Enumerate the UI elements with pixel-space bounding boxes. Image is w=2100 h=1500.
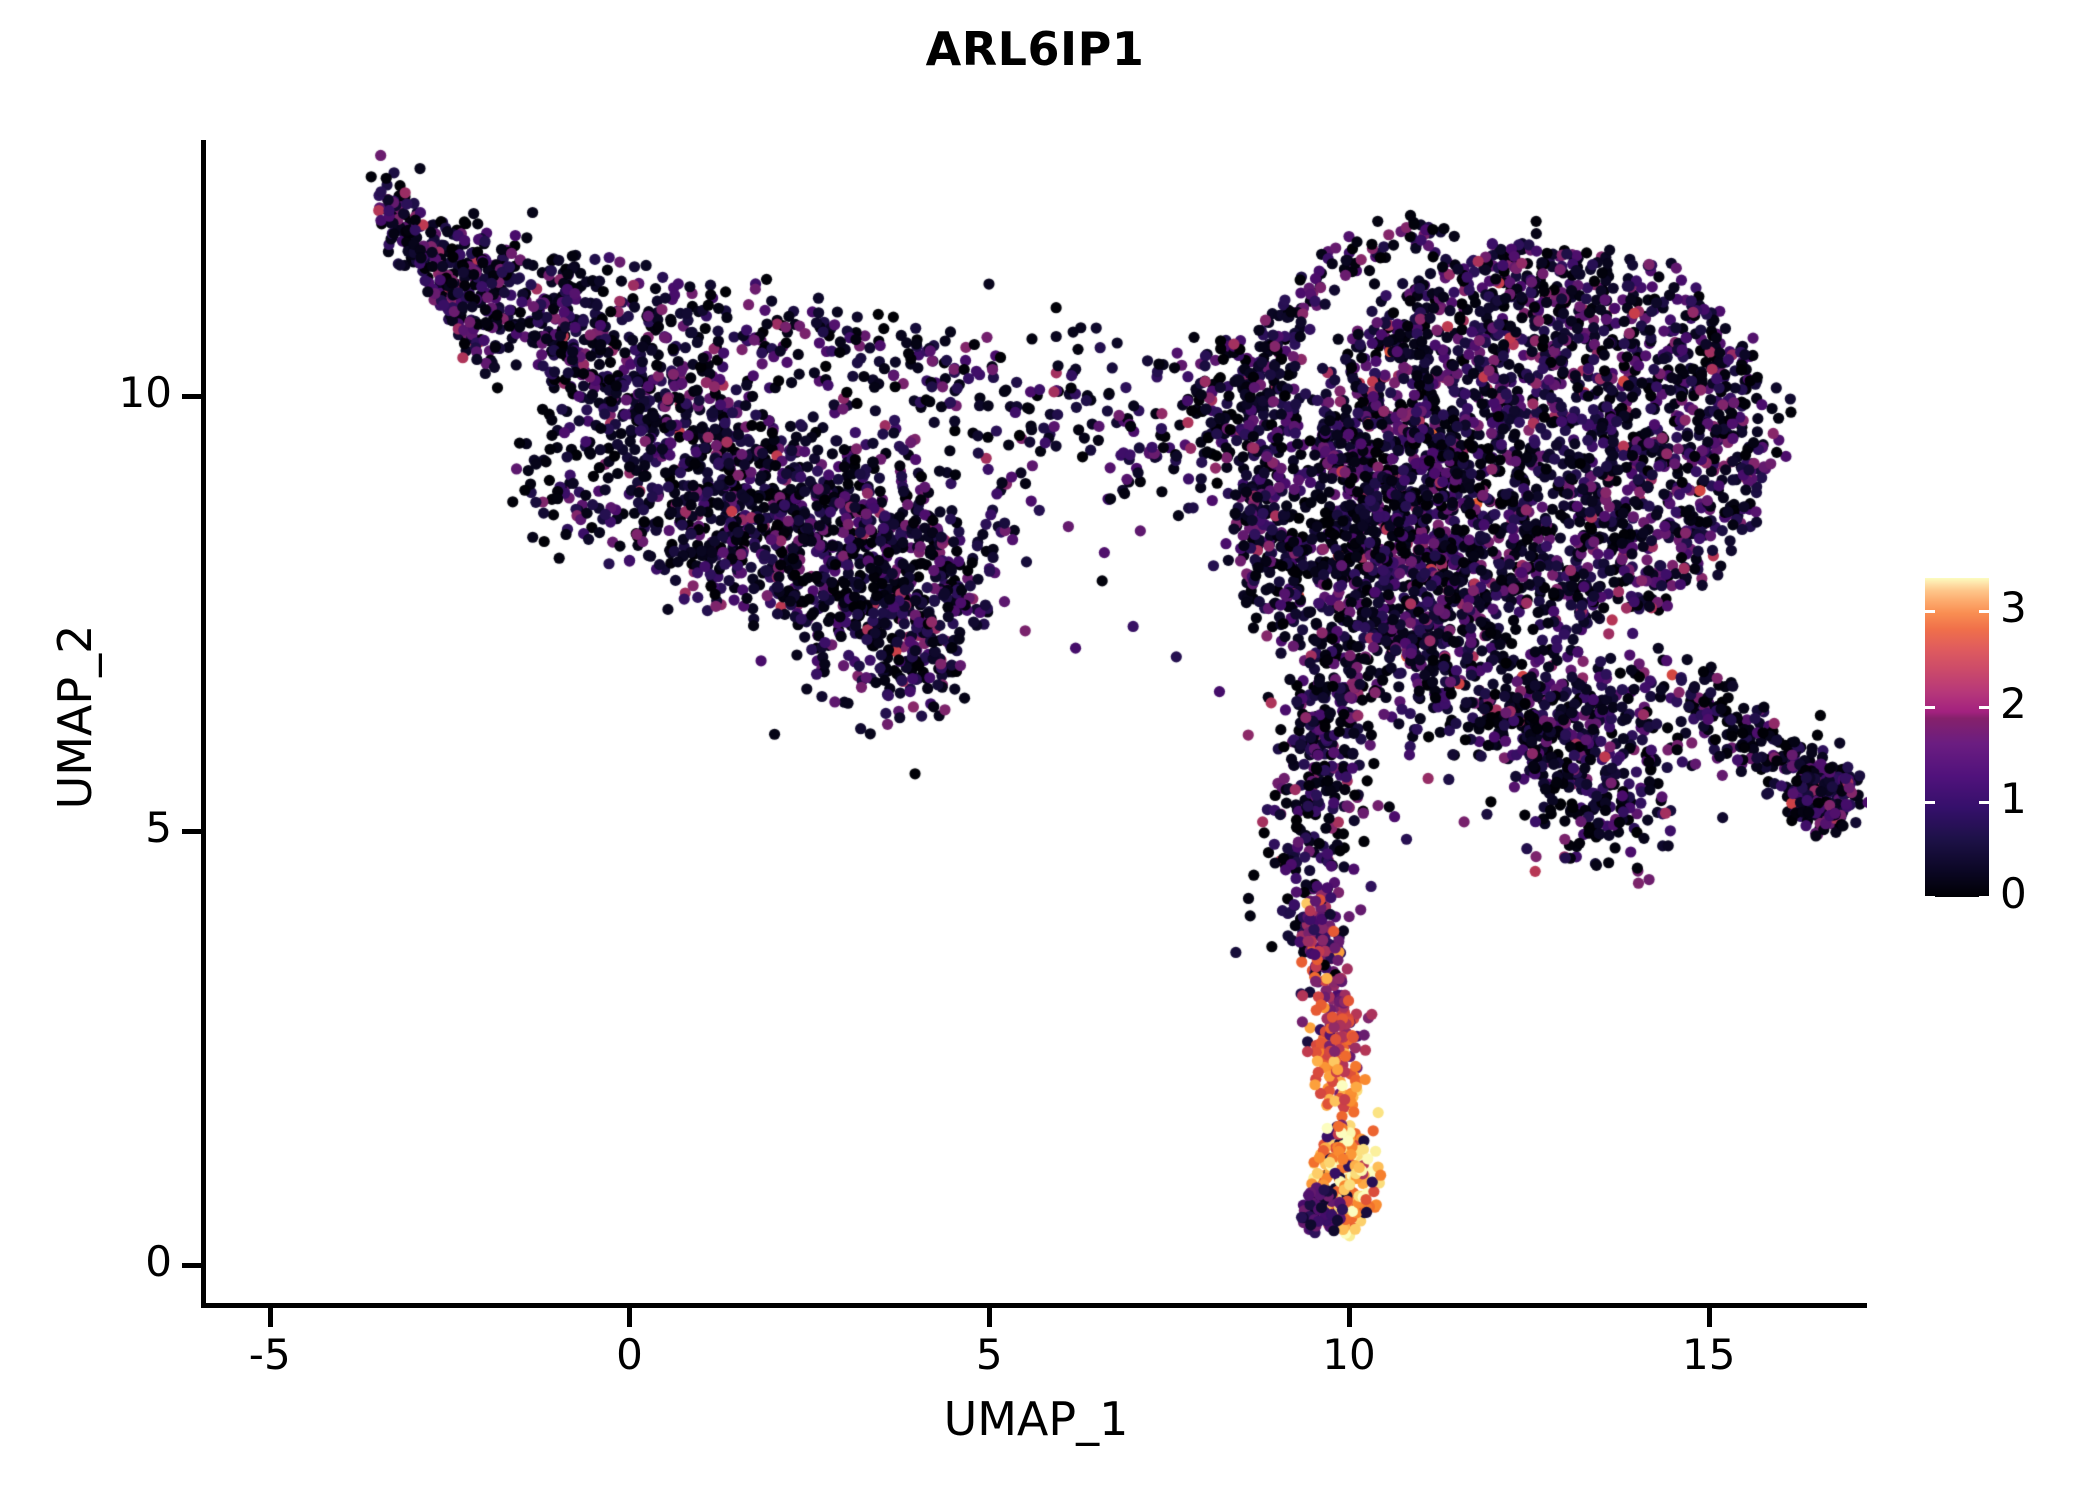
y-tick-mark	[182, 394, 201, 399]
y-axis-spine	[201, 140, 206, 1308]
colorbar-tick-mark	[1979, 706, 1989, 709]
colorbar-tick-mark	[1979, 801, 1989, 804]
colorbar-tick-mark	[1925, 896, 1935, 899]
x-tick-label: 0	[549, 1330, 709, 1379]
x-tick-mark	[627, 1308, 632, 1327]
colorbar-tick-mark	[1925, 706, 1935, 709]
y-tick-label: 0	[0, 1237, 172, 1286]
colorbar-tick-mark	[1979, 896, 1989, 899]
y-tick-mark	[182, 829, 201, 834]
x-tick-mark	[987, 1308, 992, 1327]
plot-title: ARL6IP1	[0, 22, 2070, 76]
colorbar-tick-mark	[1925, 610, 1935, 613]
x-tick-label: 10	[1269, 1330, 1429, 1379]
y-axis-label: UMAP_2	[48, 317, 102, 1117]
colorbar-gradient	[1925, 578, 1989, 897]
colorbar-tick-label: 3	[2000, 583, 2070, 632]
umap-feature-plot-figure: ARL6IP1 0510 -5051015 UMAP_1 UMAP_2 0123	[0, 0, 2100, 1500]
colorbar-tick-label: 2	[2000, 679, 2070, 728]
colorbar-tick-mark	[1925, 801, 1935, 804]
x-tick-label: 5	[909, 1330, 1069, 1379]
x-tick-label: 15	[1629, 1330, 1789, 1379]
x-tick-mark	[1347, 1308, 1352, 1327]
x-axis-spine	[201, 1303, 1867, 1308]
x-tick-mark	[1707, 1308, 1712, 1327]
x-tick-label: -5	[190, 1330, 350, 1379]
colorbar-tick-label: 0	[2000, 869, 2070, 918]
colorbar-tick-label: 1	[2000, 774, 2070, 823]
colorbar-tick-mark	[1979, 610, 1989, 613]
x-tick-mark	[268, 1308, 273, 1327]
x-axis-label: UMAP_1	[205, 1392, 1867, 1446]
scatter-plot-canvas	[205, 140, 1867, 1304]
y-tick-mark	[182, 1263, 201, 1268]
